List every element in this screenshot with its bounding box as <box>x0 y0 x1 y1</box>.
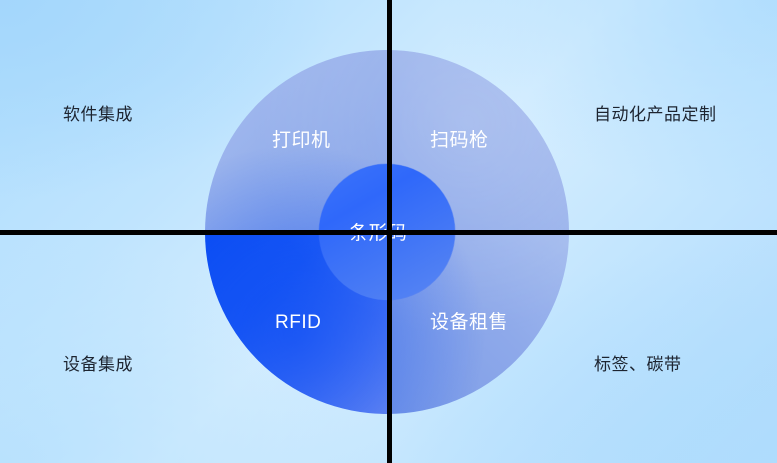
outer-label-automation-customization[interactable]: 自动化产品定制 <box>594 106 717 123</box>
diagram-canvas: 打印机 扫码枪 RFID 设备租售 条形码 软件集成 自动化产品定制 设备集成 … <box>0 0 777 463</box>
outer-label-device-integration[interactable]: 设备集成 <box>63 356 133 373</box>
horizontal-divider-line <box>0 230 777 235</box>
inner-label-printer[interactable]: 打印机 <box>272 131 331 150</box>
inner-label-rfid[interactable]: RFID <box>275 313 321 332</box>
outer-label-labels-ribbons[interactable]: 标签、碳带 <box>594 356 682 373</box>
inner-label-equipment-rental[interactable]: 设备租售 <box>430 313 508 332</box>
inner-label-scanner[interactable]: 扫码枪 <box>430 131 489 150</box>
outer-label-software-integration[interactable]: 软件集成 <box>63 106 133 123</box>
